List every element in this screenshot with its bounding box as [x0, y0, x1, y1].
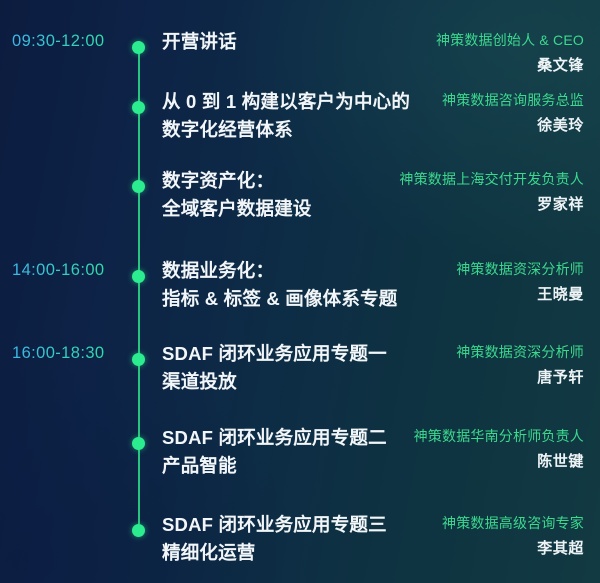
timeline-dot-icon [132, 180, 145, 193]
agenda-poster: 09:30-12:00开营讲话神策数据创始人 & CEO桑文锋从 0 到 1 构… [0, 0, 600, 583]
session-speaker: 神策数据资深分析师唐予轩 [456, 340, 584, 390]
speaker-role: 神策数据创始人 & CEO [436, 28, 584, 53]
speaker-role: 神策数据上海交付开发负责人 [399, 167, 584, 192]
session-title-line-2: 精细化运营 [162, 539, 412, 567]
speaker-name: 唐予轩 [456, 365, 584, 390]
session-time-label: 14:00-16:00 [12, 261, 128, 280]
session-title-line-1: 数据业务化： [162, 260, 274, 281]
speaker-name: 王晓曼 [456, 282, 584, 307]
session-speaker: 神策数据高级咨询专家李其超 [442, 511, 584, 561]
session-title-line-2: 产品智能 [162, 452, 412, 480]
session-title-line-2: 数字化经营体系 [162, 116, 412, 144]
session-time-label: 16:00-18:30 [12, 344, 128, 363]
session-title-line-1: SDAF 闭环业务应用专题二 [162, 427, 387, 448]
session-speaker: 神策数据华南分析师负责人陈世键 [414, 424, 584, 474]
session-title: SDAF 闭环业务应用专题三精细化运营 [162, 511, 412, 567]
timeline-dot-icon [132, 353, 145, 366]
session-title-line-1: SDAF 闭环业务应用专题一 [162, 343, 387, 364]
timeline-dot-icon [132, 270, 145, 283]
session-title-line-1: 从 0 到 1 构建以客户为中心的 [162, 91, 410, 112]
speaker-role: 神策数据华南分析师负责人 [414, 424, 584, 449]
session-title: 数据业务化：指标 & 标签 & 画像体系专题 [162, 257, 412, 313]
session-speaker: 神策数据创始人 & CEO桑文锋 [436, 28, 584, 78]
session-title: SDAF 闭环业务应用专题一渠道投放 [162, 340, 412, 396]
speaker-name: 桑文锋 [436, 53, 584, 78]
speaker-role: 神策数据资深分析师 [456, 257, 584, 282]
session-title-line-1: 数字资产化： [162, 170, 274, 191]
timeline-dot-icon [132, 41, 145, 54]
session-speaker: 神策数据咨询服务总监徐美玲 [442, 88, 584, 138]
session-title: 从 0 到 1 构建以客户为中心的数字化经营体系 [162, 88, 412, 144]
session-title: SDAF 闭环业务应用专题二产品智能 [162, 424, 412, 480]
session-title-line-2: 渠道投放 [162, 368, 412, 396]
speaker-name: 陈世键 [414, 449, 584, 474]
session-title-line-2: 指标 & 标签 & 画像体系专题 [162, 285, 412, 313]
timeline-dot-icon [132, 437, 145, 450]
session-title-line-2: 全域客户数据建设 [162, 195, 412, 223]
timeline-dot-icon [132, 524, 145, 537]
speaker-name: 李其超 [442, 536, 584, 561]
session-title: 数字资产化：全域客户数据建设 [162, 167, 412, 223]
session-speaker: 神策数据资深分析师王晓曼 [456, 257, 584, 307]
speaker-role: 神策数据咨询服务总监 [442, 88, 584, 113]
speaker-role: 神策数据资深分析师 [456, 340, 584, 365]
session-title: 开营讲话 [162, 28, 412, 56]
session-speaker: 神策数据上海交付开发负责人罗家祥 [399, 167, 584, 217]
speaker-name: 罗家祥 [399, 192, 584, 217]
timeline-dot-icon [132, 101, 145, 114]
speaker-name: 徐美玲 [442, 113, 584, 138]
session-time-label: 09:30-12:00 [12, 32, 128, 51]
session-title-line-1: 开营讲话 [162, 31, 237, 52]
speaker-role: 神策数据高级咨询专家 [442, 511, 584, 536]
session-title-line-1: SDAF 闭环业务应用专题三 [162, 514, 387, 535]
